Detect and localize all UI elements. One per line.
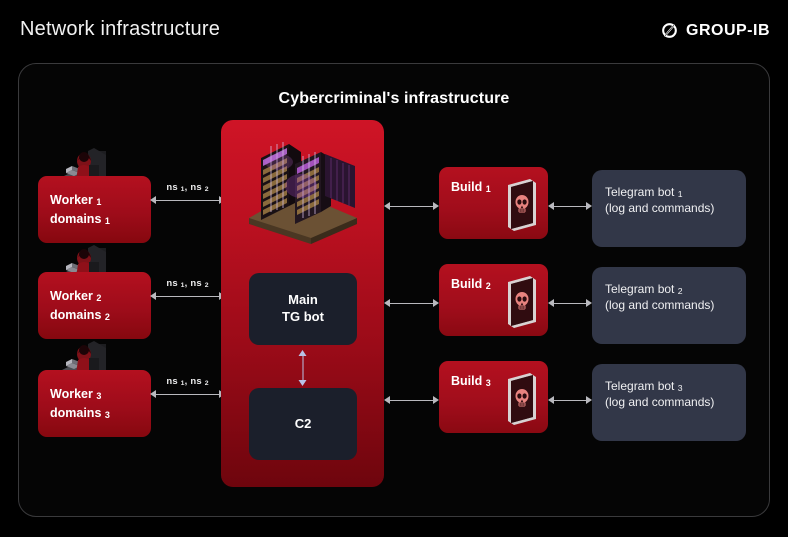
telegram-bot-node-2[interactable]: Telegram bot 2 (log and commands) bbox=[592, 267, 746, 344]
bidirectional-arrow-icon bbox=[298, 350, 307, 386]
worker-node-2[interactable]: Worker 2 domains 2 bbox=[38, 272, 151, 339]
bidirectional-arrow-icon bbox=[548, 299, 592, 308]
build-node-2[interactable]: Build 2 bbox=[439, 264, 548, 336]
brand-logo: GROUP-IB bbox=[660, 21, 770, 40]
group-ib-logo-icon bbox=[660, 21, 679, 40]
main-tg-bot-label: MainTG bot bbox=[282, 292, 324, 326]
ns-connector-1: ns 1, ns 2 bbox=[150, 182, 225, 205]
ns-connector-label-2: ns 1, ns 2 bbox=[150, 278, 225, 289]
c2-label: C2 bbox=[295, 416, 312, 433]
telegram-bot-label-3: Telegram bot 3 (log and commands) bbox=[605, 378, 734, 410]
ns-connector-3: ns 1, ns 2 bbox=[150, 376, 225, 399]
worker-label-2: Worker 2 domains 2 bbox=[50, 287, 151, 323]
bidirectional-arrow-icon bbox=[548, 396, 592, 405]
worker-node-1[interactable]: Worker 1 domains 1 bbox=[38, 176, 151, 243]
page-title: Network infrastructure bbox=[20, 18, 220, 41]
bidirectional-arrow-icon bbox=[548, 202, 592, 211]
bidirectional-arrow-icon bbox=[150, 196, 225, 205]
bidirectional-arrow-icon bbox=[384, 396, 439, 405]
ns-connector-label-1: ns 1, ns 2 bbox=[150, 182, 225, 193]
phone-skull-icon bbox=[502, 175, 538, 233]
build-label-2: Build 2 bbox=[451, 277, 491, 291]
c2-node[interactable]: C2 bbox=[249, 388, 357, 460]
ns-connector-2: ns 1, ns 2 bbox=[150, 278, 225, 301]
worker-label-1: Worker 1 domains 1 bbox=[50, 191, 151, 227]
card-title: Cybercriminal's infrastructure bbox=[19, 90, 769, 108]
cybercriminal-infrastructure-panel: MainTG bot C2 bbox=[221, 120, 384, 487]
telegram-bot-node-1[interactable]: Telegram bot 1 (log and commands) bbox=[592, 170, 746, 247]
worker-node-3[interactable]: Worker 3 domains 3 bbox=[38, 370, 151, 437]
bidirectional-arrow-icon bbox=[150, 390, 225, 399]
bidirectional-arrow-icon bbox=[384, 299, 439, 308]
main-tg-bot-node[interactable]: MainTG bot bbox=[249, 273, 357, 345]
build-node-3[interactable]: Build 3 bbox=[439, 361, 548, 433]
telegram-bot-label-2: Telegram bot 2 (log and commands) bbox=[605, 281, 734, 313]
bidirectional-arrow-icon bbox=[384, 202, 439, 211]
brand-name: GROUP-IB bbox=[686, 22, 770, 40]
telegram-bot-node-3[interactable]: Telegram bot 3 (log and commands) bbox=[592, 364, 746, 441]
diagram-root: Network infrastructure GROUP-IB Cybercri… bbox=[0, 0, 788, 537]
build-node-1[interactable]: Build 1 bbox=[439, 167, 548, 239]
worker-label-3: Worker 3 domains 3 bbox=[50, 385, 151, 421]
ns-connector-label-3: ns 1, ns 2 bbox=[150, 376, 225, 387]
phone-skull-icon bbox=[502, 272, 538, 330]
phone-skull-icon bbox=[502, 369, 538, 427]
telegram-bot-label-1: Telegram bot 1 (log and commands) bbox=[605, 184, 734, 216]
bidirectional-arrow-icon bbox=[150, 292, 225, 301]
server-rack-illustration bbox=[239, 134, 367, 246]
build-label-3: Build 3 bbox=[451, 374, 491, 388]
build-label-1: Build 1 bbox=[451, 180, 491, 194]
